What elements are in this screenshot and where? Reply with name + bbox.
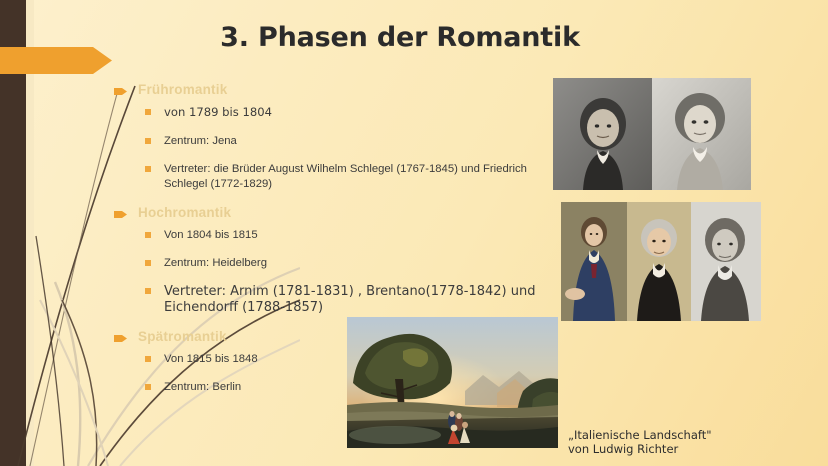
- list-item-label: Zentrum: Berlin: [164, 381, 241, 393]
- arrow-bullet-icon: [114, 210, 127, 219]
- section-heading-label: Hochromantik: [138, 205, 231, 220]
- square-bullet-icon: [145, 356, 151, 362]
- square-bullet-icon: [145, 260, 151, 266]
- list-item-label: Von 1804 bis 1815: [164, 229, 258, 241]
- slide-canvas: 3. Phasen der Romantik Frühromantik von …: [0, 0, 828, 466]
- list-item: Zentrum: Heidelberg: [112, 256, 552, 271]
- caption-line-2: von Ludwig Richter: [568, 442, 712, 456]
- square-bullet-icon: [145, 384, 151, 390]
- image-caption: „Italienische Landschaft" von Ludwig Ric…: [568, 428, 712, 456]
- square-bullet-icon: [145, 288, 151, 294]
- square-bullet-icon: [145, 109, 151, 115]
- arrow-bullet-icon: [114, 334, 127, 343]
- list-item: Von 1804 bis 1815: [112, 228, 552, 243]
- arrow-bullet-icon: [114, 87, 127, 96]
- list-item: Vertreter: die Brüder August Wilhelm Sch…: [112, 162, 552, 192]
- orange-arrow-banner: [0, 45, 112, 76]
- page-title: 3. Phasen der Romantik: [120, 22, 680, 53]
- list-item-label: Vertreter: die Brüder August Wilhelm Sch…: [164, 163, 527, 190]
- list-item: von 1789 bis 1804: [112, 105, 552, 121]
- section-heading-label: Spätromantik: [138, 329, 227, 344]
- section-heading-label: Frühromantik: [138, 82, 227, 97]
- list-item-label: Zentrum: Heidelberg: [164, 257, 267, 269]
- list-item-label: Vertreter: Arnim (1781-1831) , Brentano(…: [164, 284, 536, 315]
- list-item: Zentrum: Jena: [112, 134, 552, 149]
- italienische-landschaft-painting: [347, 317, 558, 448]
- square-bullet-icon: [145, 166, 151, 172]
- list-item-label: Von 1815 bis 1848: [164, 353, 258, 365]
- list-item-label: von 1789 bis 1804: [164, 105, 272, 119]
- arnim-brentano-eichendorff-portraits: [561, 202, 761, 321]
- square-bullet-icon: [145, 232, 151, 238]
- caption-line-1: „Italienische Landschaft": [568, 428, 712, 442]
- section-heading-fruehromantik: Frühromantik: [112, 82, 552, 97]
- list-item-label: Zentrum: Jena: [164, 135, 237, 147]
- list-item: Vertreter: Arnim (1781-1831) , Brentano(…: [112, 284, 552, 316]
- schlegel-brothers-portraits: [553, 78, 751, 190]
- section-heading-hochromantik: Hochromantik: [112, 205, 552, 220]
- square-bullet-icon: [145, 138, 151, 144]
